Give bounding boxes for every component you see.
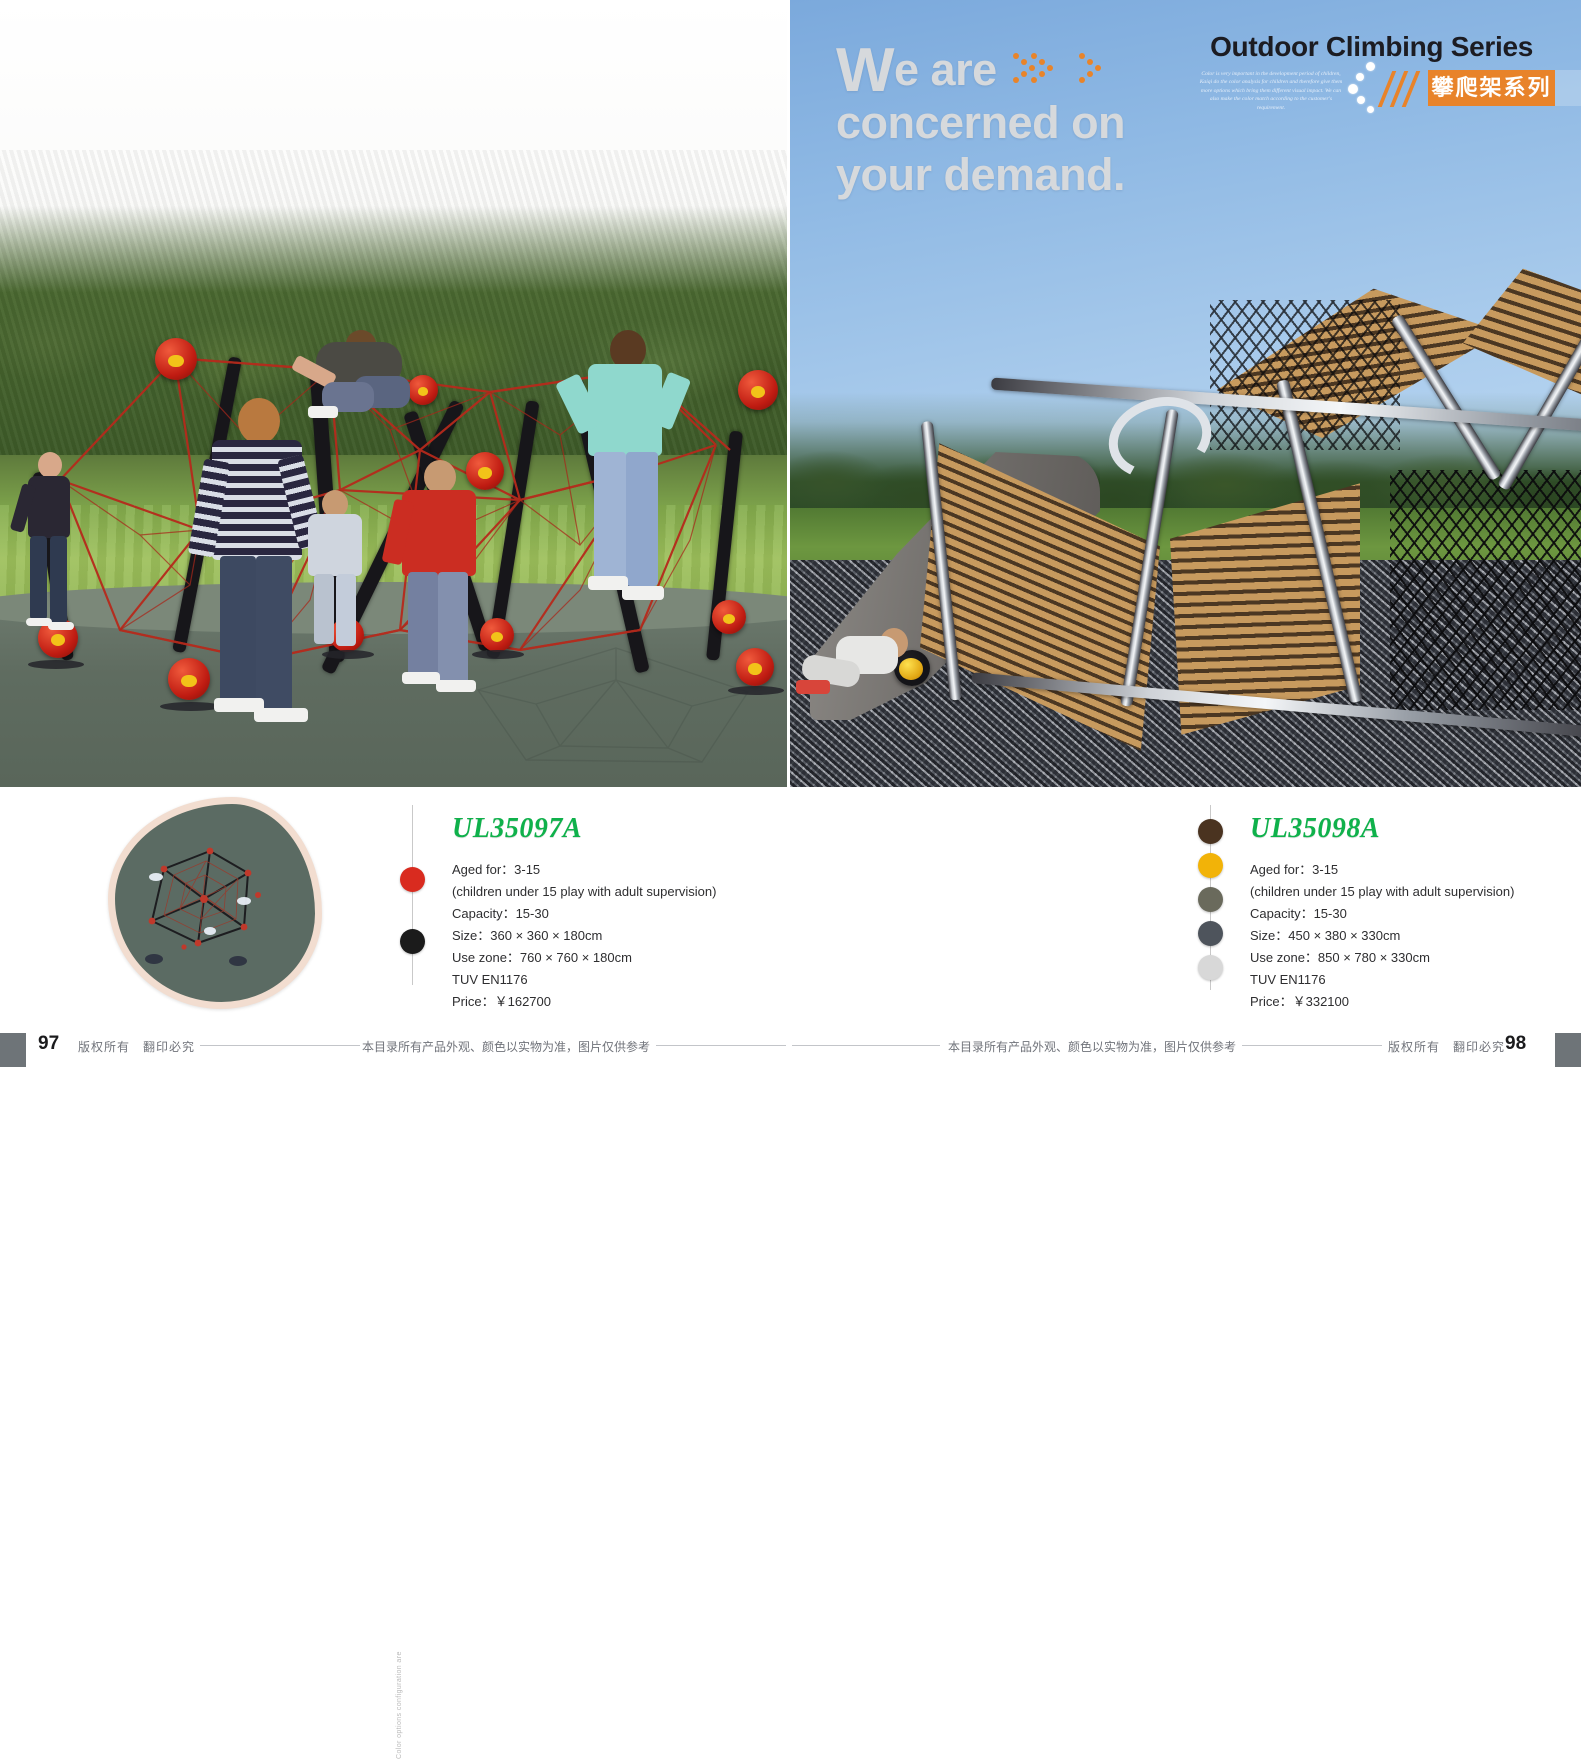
- product-block-ul35098a: Color options configuration are UL35098A…: [790, 787, 1581, 1015]
- series-description: Color is very important in the developme…: [1196, 70, 1346, 112]
- badge-tail: [1555, 70, 1581, 106]
- rope-net-panel: [1210, 300, 1400, 450]
- footer-note-left: 本目录所有产品外观、颜色以实物为准，图片仅供参考: [362, 1038, 650, 1055]
- spec-certification: TUV EN1176: [1250, 969, 1514, 991]
- footer-copyright-left: 版权所有 翻印必究: [78, 1038, 195, 1055]
- product-info-ul35097a: UL35097A Aged for：3-15 (children under 1…: [452, 813, 716, 1013]
- chevron-arrows-icon: [1009, 49, 1105, 83]
- spec-capacity: Capacity：15-30: [452, 903, 716, 925]
- spec-capacity: Capacity：15-30: [1250, 903, 1514, 925]
- headline-line3: your demand.: [836, 149, 1166, 201]
- product-info-ul35098a: UL35098A Aged for：3-15 (children under 1…: [1250, 813, 1514, 1013]
- footer-note-right: 本目录所有产品外观、颜色以实物为准，图片仅供参考: [948, 1038, 1236, 1055]
- headline-first-letter: W: [836, 36, 894, 105]
- color-swatch[interactable]: [1198, 853, 1223, 878]
- color-swatch[interactable]: [400, 867, 425, 892]
- headline: We are concerned on your demand.: [836, 44, 1166, 201]
- footer-block-left: [0, 1033, 26, 1067]
- page-number-left: 97: [38, 1033, 59, 1055]
- spec-aged-for: Aged for：3-15: [452, 859, 716, 881]
- footer-rule: [656, 1045, 786, 1046]
- color-options-ul35098a: [1196, 805, 1226, 990]
- product-photo-ul35098a: We are concerned on your demand.: [790, 0, 1581, 787]
- child-figure: [392, 460, 488, 690]
- side-wood-panel: [920, 438, 1160, 757]
- product-block-ul35097a: Color options configuration are UL35097A…: [0, 787, 787, 1015]
- spec-aged-for: Aged for：3-15: [1250, 859, 1514, 881]
- footer-copyright-right: 版权所有 翻印必究: [1388, 1038, 1505, 1055]
- swatch-connector-line: [412, 805, 413, 985]
- child-figure: [300, 490, 370, 650]
- spec-size: Size：360 × 360 × 180cm: [452, 925, 716, 947]
- catalog-spread: We are concerned on your demand. Outdoor…: [0, 0, 1581, 1080]
- spec-price: Price：￥332100: [1250, 991, 1514, 1013]
- color-swatch[interactable]: [400, 929, 425, 954]
- page-number-right: 98: [1505, 1033, 1526, 1055]
- child-figure-on-slide: [802, 610, 922, 720]
- photo-band: We are concerned on your demand. Outdoor…: [0, 0, 1581, 787]
- spec-supervision-note: (children under 15 play with adult super…: [1250, 881, 1514, 903]
- spec-use-zone: Use zone：760 × 760 × 180cm: [452, 947, 716, 969]
- child-figure: [196, 398, 312, 728]
- spec-size: Size：450 × 380 × 330cm: [1250, 925, 1514, 947]
- rope-net-panel: [1390, 470, 1581, 710]
- slash-marks-icon: [1383, 71, 1429, 107]
- headline-line2: concerned on: [836, 97, 1166, 149]
- spec-use-zone: Use zone：850 × 780 × 330cm: [1250, 947, 1514, 969]
- plan-view-ul35097a: [86, 791, 378, 1005]
- footer-rule: [200, 1045, 360, 1046]
- plan-structure-drawing: [86, 791, 378, 1005]
- page-footer: 97 版权所有 翻印必究 本目录所有产品外观、颜色以实物为准，图片仅供参考 本目…: [0, 1015, 1581, 1080]
- footer-rule: [1242, 1045, 1382, 1046]
- footer-block-right: [1555, 1033, 1581, 1067]
- color-swatch[interactable]: [1198, 887, 1223, 912]
- child-figure: [300, 330, 440, 460]
- footer-rule: [792, 1045, 940, 1046]
- color-swatch[interactable]: [1198, 955, 1223, 980]
- product-sku: UL35097A: [452, 813, 716, 845]
- color-options-label: Color options configuration are: [396, 1651, 403, 1759]
- product-photo-ul35097a: [0, 0, 787, 787]
- color-swatch[interactable]: [1198, 819, 1223, 844]
- color-options-ul35097a: [398, 805, 428, 985]
- child-figure: [18, 452, 78, 642]
- product-sku: UL35098A: [1250, 813, 1514, 845]
- child-figure: [566, 330, 686, 630]
- spec-supervision-note: (children under 15 play with adult super…: [452, 881, 716, 903]
- headline-line1: e are: [894, 44, 997, 95]
- series-badge-cn: 攀爬架系列: [1428, 70, 1555, 106]
- spec-price: Price：￥162700: [452, 991, 716, 1013]
- spec-certification: TUV EN1176: [452, 969, 716, 991]
- series-title: Outdoor Climbing Series: [1210, 31, 1533, 63]
- color-swatch[interactable]: [1198, 921, 1223, 946]
